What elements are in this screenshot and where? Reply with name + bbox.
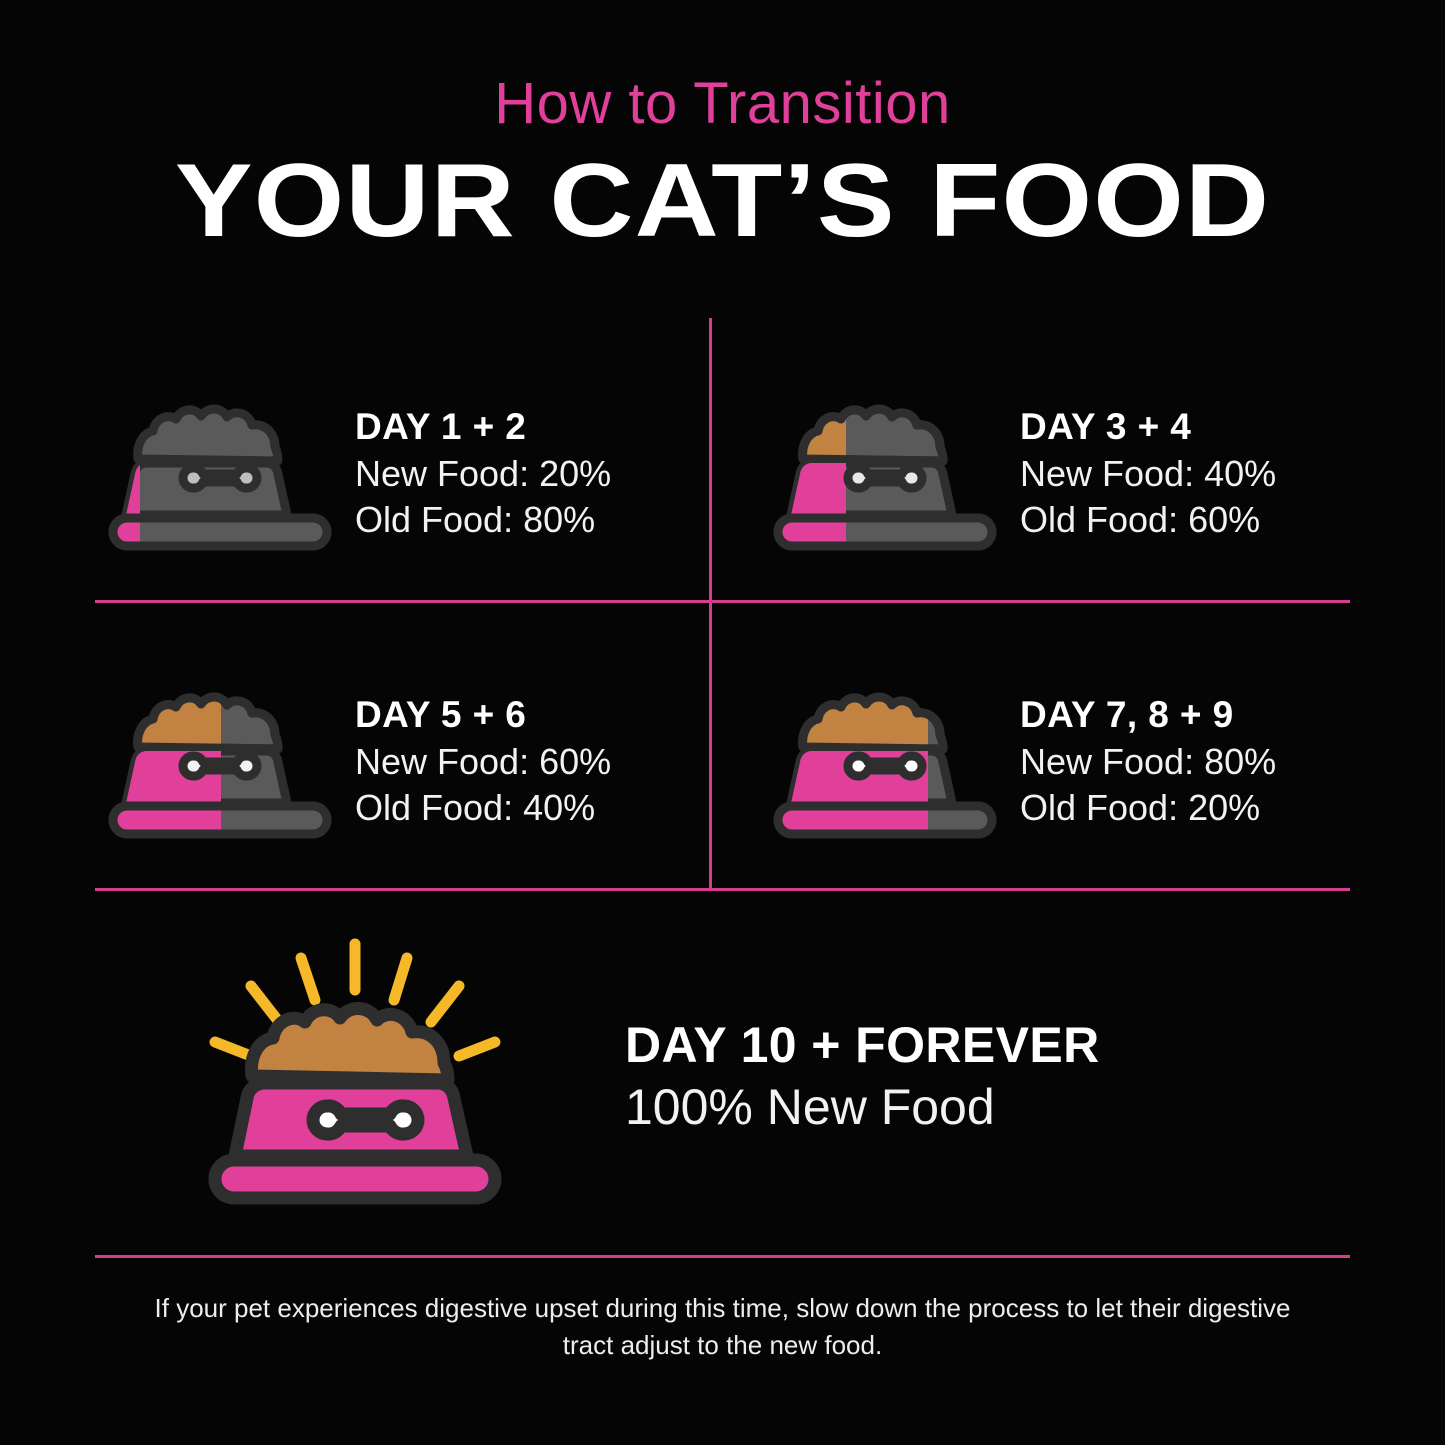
step-card-day-7-8-9: DAY 7, 8 + 9 New Food: 80% Old Food: 20%: [760, 648, 1360, 878]
divider-horizontal-middle: [95, 600, 1350, 603]
page-subtitle: How to Transition: [0, 74, 1445, 135]
day-label: DAY 3 + 4: [1020, 407, 1360, 448]
day-label: DAY 7, 8 + 9: [1020, 695, 1360, 736]
step-text: DAY 1 + 2 New Food: 20% Old Food: 80%: [345, 407, 705, 544]
pet-bowl-icon: [760, 375, 1010, 575]
divider-vertical-center: [709, 318, 712, 890]
step-card-day-3-4: DAY 3 + 4 New Food: 40% Old Food: 60%: [760, 360, 1360, 590]
page-title: YOUR CAT’S FOOD: [0, 149, 1445, 253]
step-text: DAY 3 + 4 New Food: 40% Old Food: 60%: [1010, 407, 1360, 544]
step-card-day-10-forever: DAY 10 + FOREVER 100% New Food: [95, 915, 1350, 1240]
header: How to Transition YOUR CAT’S FOOD: [0, 74, 1445, 253]
new-food-line: New Food: 40%: [1020, 451, 1360, 497]
old-food-line: Old Food: 60%: [1020, 497, 1360, 543]
pet-bowl-sunburst-icon-svg: [175, 928, 535, 1228]
day-label: DAY 5 + 6: [355, 695, 705, 736]
pet-bowl-icon-svg: [95, 663, 345, 863]
infographic-page: How to Transition YOUR CAT’S FOOD: [0, 0, 1445, 1445]
footer-note-text: If your pet experiences digestive upset …: [150, 1290, 1295, 1364]
step-card-day-5-6: DAY 5 + 6 New Food: 60% Old Food: 40%: [95, 648, 705, 878]
new-food-line: New Food: 20%: [355, 451, 705, 497]
bone-icon: [313, 1105, 418, 1133]
final-step-text: DAY 10 + FOREVER 100% New Food: [615, 1018, 1350, 1137]
final-day-label: DAY 10 + FOREVER: [625, 1018, 1350, 1073]
day-label: DAY 1 + 2: [355, 407, 705, 448]
pet-bowl-icon: [760, 663, 1010, 863]
pet-bowl-icon-svg: [760, 663, 1010, 863]
bone-icon: [183, 756, 257, 776]
pet-bowl-icon-svg: [760, 375, 1010, 575]
step-text: DAY 5 + 6 New Food: 60% Old Food: 40%: [345, 695, 705, 832]
bone-icon: [183, 468, 257, 488]
bone-icon: [848, 756, 922, 776]
pet-bowl-icon: [95, 375, 345, 575]
step-text: DAY 7, 8 + 9 New Food: 80% Old Food: 20%: [1010, 695, 1360, 832]
old-food-line: Old Food: 20%: [1020, 785, 1360, 831]
bone-icon: [848, 468, 922, 488]
step-card-day-1-2: DAY 1 + 2 New Food: 20% Old Food: 80%: [95, 360, 705, 590]
new-food-line: New Food: 60%: [355, 739, 705, 785]
old-food-line: Old Food: 40%: [355, 785, 705, 831]
new-food-line: New Food: 80%: [1020, 739, 1360, 785]
pet-bowl-sunburst-icon: [95, 928, 615, 1228]
divider-horizontal-footer: [95, 1255, 1350, 1258]
final-sub-label: 100% New Food: [625, 1079, 1350, 1137]
old-food-line: Old Food: 80%: [355, 497, 705, 543]
divider-horizontal-lower: [95, 888, 1350, 891]
pet-bowl-icon-svg: [95, 375, 345, 575]
footer-note: If your pet experiences digestive upset …: [150, 1290, 1295, 1364]
pet-bowl-icon: [95, 663, 345, 863]
